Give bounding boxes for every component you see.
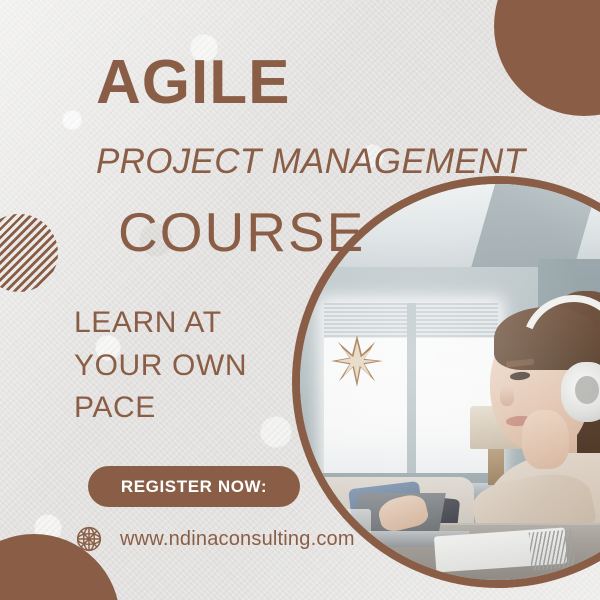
promo-poster: AGILE PROJECT MANAGEMENT COURSE LEARN AT… <box>0 0 600 600</box>
headline-block: AGILE PROJECT MANAGEMENT COURSE <box>96 52 516 260</box>
sparkle-star-icon <box>330 334 384 388</box>
website-url[interactable]: www.ndinaconsulting.com <box>120 528 355 551</box>
tagline-line-3: PACE <box>74 387 324 430</box>
headline-course: COURSE <box>118 205 516 260</box>
headline-agile: AGILE <box>96 52 516 114</box>
headline-project-management: PROJECT MANAGEMENT <box>96 144 516 179</box>
register-now-button[interactable]: REGISTER NOW: <box>88 466 300 507</box>
website-footer[interactable]: www.ndinaconsulting.com <box>72 522 355 556</box>
tagline-line-2: YOUR OWN <box>74 345 324 388</box>
tagline-block: LEARN AT YOUR OWN PACE <box>74 302 324 430</box>
register-now-label: REGISTER NOW: <box>121 477 267 497</box>
tagline-line-1: LEARN AT <box>74 302 324 345</box>
globe-icon <box>72 522 106 556</box>
